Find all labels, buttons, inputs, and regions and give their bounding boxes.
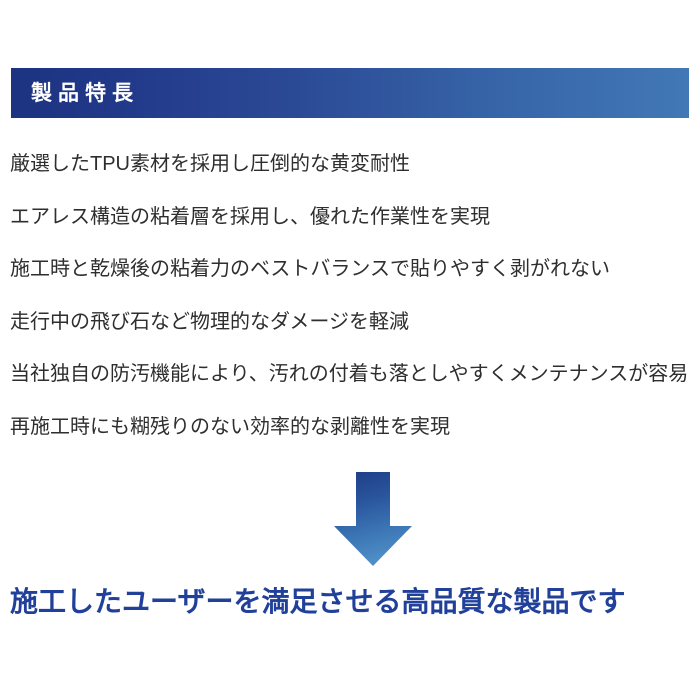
section-header-title: 製品特長: [31, 83, 139, 104]
feature-text: 再施工時にも糊残りのない効率的な剥離性を実現: [10, 417, 450, 437]
feature-list-item: 当社独自の防汚機能により、汚れの付着も落としやすくメンテナンスが容易: [10, 348, 696, 401]
feature-text: エアレス構造の粘着層を採用し、優れた作業性を実現: [10, 207, 490, 227]
feature-text: 当社独自の防汚機能により、汚れの付着も落としやすくメンテナンスが容易: [10, 364, 688, 384]
feature-list-item: 施工時と乾燥後の粘着力のベストバランスで貼りやすく剥がれない: [10, 243, 696, 296]
feature-list-item: 厳選したTPU素材を採用し圧倒的な黄変耐性: [10, 138, 696, 191]
conclusion-text: 施工したユーザーを満足させる高品質な製品です: [10, 585, 700, 619]
feature-list-item: 走行中の飛び石など物理的なダメージを軽減: [10, 296, 696, 349]
feature-list-item: エアレス構造の粘着層を採用し、優れた作業性を実現: [10, 191, 696, 244]
section-header-bar: 製品特長: [11, 68, 689, 118]
feature-text: 施工時と乾燥後の粘着力のベストバランスで貼りやすく剥がれない: [10, 259, 610, 279]
feature-list: 厳選したTPU素材を採用し圧倒的な黄変耐性 エアレス構造の粘着層を採用し、優れた…: [10, 138, 696, 453]
arrow-container: [0, 470, 700, 572]
product-features-panel: 製品特長 厳選したTPU素材を採用し圧倒的な黄変耐性 エアレス構造の粘着層を採用…: [0, 0, 700, 700]
feature-list-item: 再施工時にも糊残りのない効率的な剥離性を実現: [10, 401, 696, 454]
feature-text: 走行中の飛び石など物理的なダメージを軽減: [10, 312, 409, 332]
arrow-down-icon: [331, 470, 415, 568]
feature-text: 厳選したTPU素材を採用し圧倒的な黄変耐性: [10, 154, 410, 174]
